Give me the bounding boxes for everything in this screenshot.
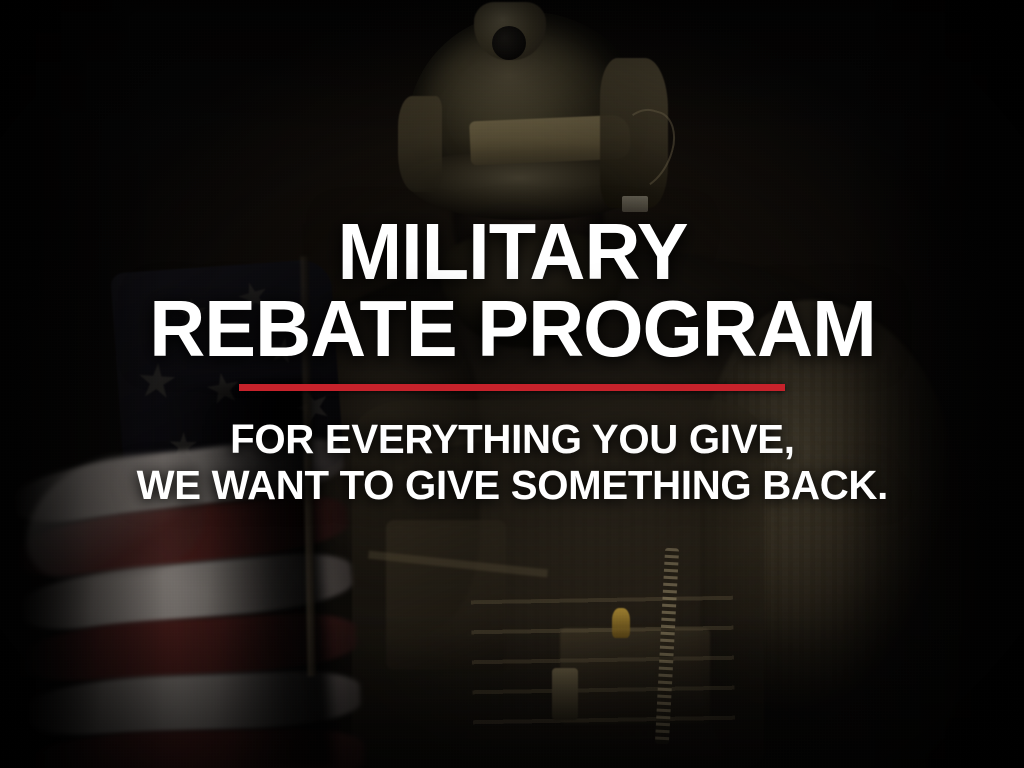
page-subtitle: FOR EVERYTHING YOU GIVE, WE WANT TO GIVE… xyxy=(136,417,887,509)
headline-line-1: MILITARY xyxy=(149,214,875,291)
poster-content: MILITARY REBATE PROGRAM FOR EVERYTHING Y… xyxy=(0,0,1024,768)
military-rebate-poster: MILITARY REBATE PROGRAM FOR EVERYTHING Y… xyxy=(0,0,1024,768)
page-title: MILITARY REBATE PROGRAM xyxy=(149,214,875,368)
subhead-line-2: WE WANT TO GIVE SOMETHING BACK. xyxy=(136,463,887,509)
red-divider-rule xyxy=(239,384,785,391)
subhead-line-1: FOR EVERYTHING YOU GIVE, xyxy=(136,417,887,463)
headline-line-2: REBATE PROGRAM xyxy=(149,291,875,368)
